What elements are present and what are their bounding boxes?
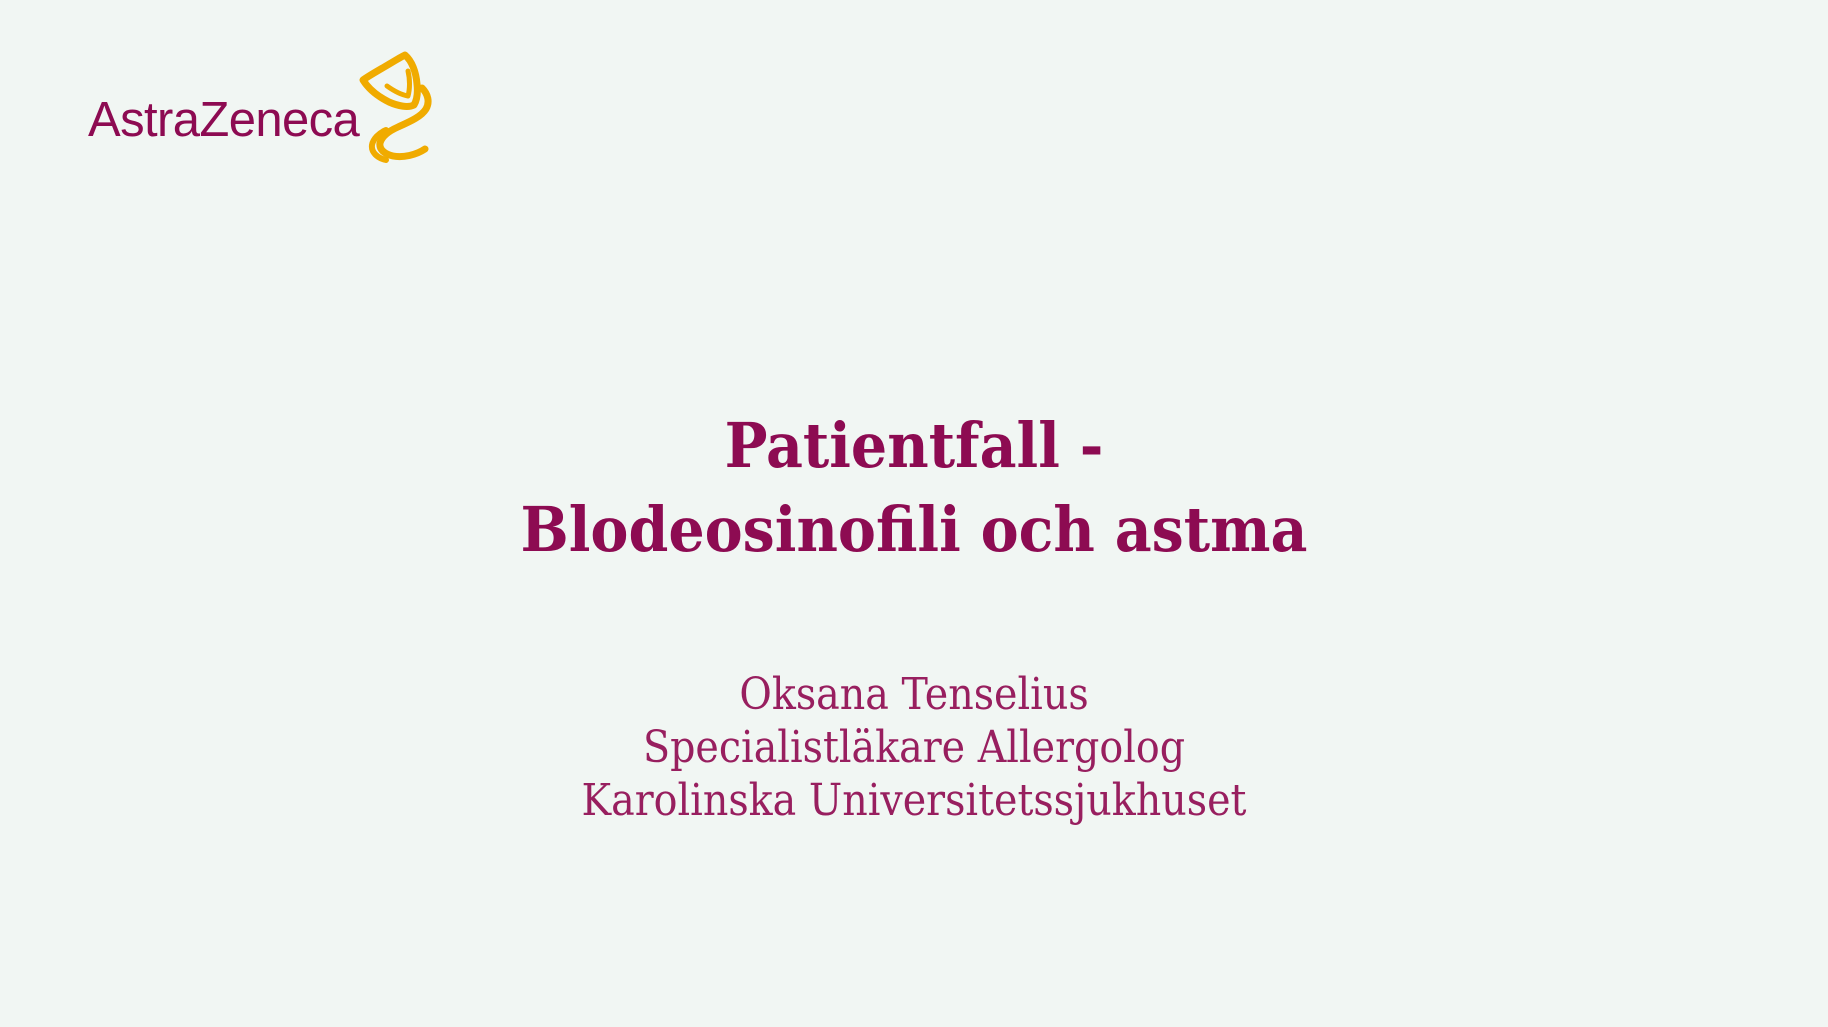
presenter-info: Oksana Tenselius Specialistläkare Allerg…	[0, 668, 1828, 827]
astrazeneca-logo: AstraZeneca	[88, 48, 438, 163]
slide-title-line-2: Blodeosinofili och astma	[73, 488, 1755, 572]
presenter-affiliation: Karolinska Universitetssjukhuset	[91, 774, 1736, 827]
presenter-name: Oksana Tenselius	[91, 668, 1736, 721]
title-slide: AstraZeneca Patientfall - Blodeosinofili…	[0, 0, 1828, 1027]
astrazeneca-ribbon-logomark	[356, 48, 438, 163]
slide-title: Patientfall - Blodeosinofili och astma	[0, 404, 1828, 572]
presenter-role: Specialistläkare Allergolog	[91, 721, 1736, 774]
astrazeneca-wordmark: AstraZeneca	[88, 96, 359, 145]
slide-title-line-1: Patientfall -	[73, 404, 1755, 488]
